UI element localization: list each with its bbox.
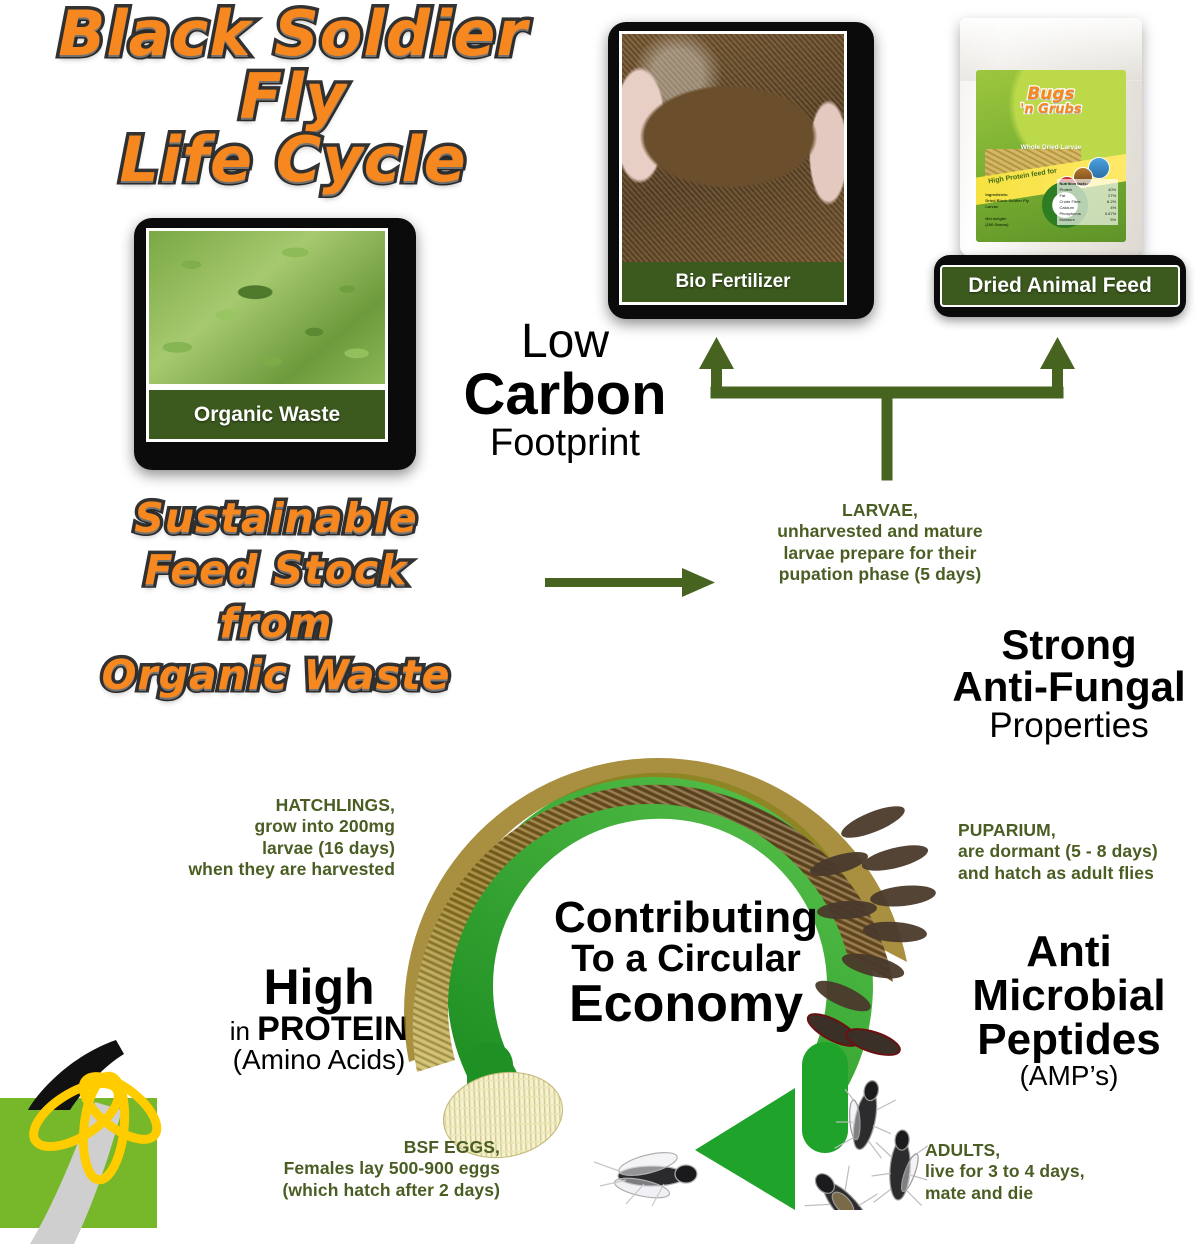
benefit-amp-line-3: Peptides	[938, 1018, 1200, 1062]
poster-subtitle-line-1: Sustainable	[96, 492, 456, 544]
bag-brand: Bugs 'n Grubs	[976, 86, 1125, 116]
benefit-anti-fungal-line-1: Strong	[938, 624, 1200, 666]
benefit-anti-fungal: Strong Anti-Fungal Properties	[938, 624, 1200, 743]
benefit-protein-line-2-word: PROTEIN	[257, 1010, 408, 1048]
center-heading-line-3: Economy	[516, 978, 856, 1030]
page-title-line-2: Life Cycle	[0, 128, 586, 191]
stage-bsf-eggs: BSF EGGS, Females lay 500-900 eggs (whic…	[215, 1137, 500, 1201]
product-bag-bugs-n-grubs[interactable]: Bugs 'n Grubs Whole Dried Larvae ( Black…	[960, 18, 1142, 256]
card-caption-organic-waste: Organic Waste	[149, 390, 385, 439]
stage-larvae-line-1: unharvested and mature	[725, 521, 1035, 542]
center-heading-circular-economy: Contributing To a Circular Economy	[516, 896, 856, 1030]
stage-hatchlings-line-3: when they are harvested	[160, 859, 395, 880]
arrow-waste-to-larvae	[545, 564, 715, 604]
company-logo-mark	[0, 1030, 220, 1247]
stage-hatchlings-heading: HATCHLINGS,	[160, 795, 395, 816]
bag-netweight-body: (150 Grams)	[985, 222, 1008, 227]
bag-nutrition-value: 5%	[1110, 217, 1116, 223]
benefit-anti-fungal-line-3: Properties	[938, 708, 1200, 743]
bag-ingredients-title: Ingredients:	[985, 192, 1008, 197]
stage-bsf-eggs-heading: BSF EGGS,	[215, 1137, 500, 1158]
stage-larvae: LARVAE, unharvested and mature larvae pr…	[725, 500, 1035, 585]
card-organic-waste[interactable]: Organic Waste	[134, 218, 416, 470]
stage-adults-line-2: mate and die	[925, 1183, 1175, 1204]
benefit-amp-line-2: Microbial	[938, 974, 1200, 1018]
page-title: Black Soldier Fly Life Cycle	[0, 2, 586, 192]
bag-brand-line-2: 'n Grubs	[976, 103, 1125, 116]
bio-fertilizer-photo	[622, 34, 844, 262]
stage-hatchlings-line-2: larvae (16 days)	[160, 838, 395, 859]
stage-adults: ADULTS, live for 3 to 4 days, mate and d…	[925, 1140, 1175, 1204]
infographic-poster: Black Soldier Fly Life Cycle Sustainable…	[0, 0, 1200, 1247]
stage-bsf-eggs-line-1: Females lay 500-900 eggs	[215, 1158, 500, 1179]
benefit-low-carbon-footprint: Low Carbon Footprint	[440, 318, 690, 462]
bag-ingredients-body: Dried Black Soldier Fly Larvae	[985, 198, 1029, 209]
benefit-low-carbon-line-2: Carbon	[440, 366, 690, 424]
stage-larvae-heading: LARVAE,	[725, 500, 1035, 521]
stage-hatchlings: HATCHLINGS, grow into 200mg larvae (16 d…	[160, 795, 395, 880]
bag-ingredients: Ingredients: Dried Black Soldier Fly Lar…	[985, 192, 1039, 228]
bag-netweight-title: Net weight:	[985, 216, 1007, 221]
stage-puparium-line-2: and hatch as adult flies	[958, 863, 1200, 884]
stage-larvae-line-3: pupation phase (5 days)	[725, 564, 1035, 585]
stage-adults-line-1: live for 3 to 4 days,	[925, 1161, 1175, 1182]
flying-adult-fly	[560, 1130, 710, 1220]
card-caption-dried-animal-feed-wrap: Dried Animal Feed	[934, 255, 1186, 317]
bag-brand-line-1: Bugs	[1027, 84, 1074, 104]
benefit-amp-line-1: Anti	[938, 930, 1200, 974]
card-bio-fertilizer[interactable]: Bio Fertilizer	[608, 22, 874, 319]
card-caption-bio-fertilizer: Bio Fertilizer	[622, 262, 844, 302]
center-heading-line-2: To a Circular	[516, 940, 856, 978]
bag-nutrition-title: Nutrition facts:	[1059, 181, 1087, 186]
benefit-amp-line-4: (AMP’s)	[938, 1062, 1200, 1090]
bag-nutrition-label: Moisture	[1059, 217, 1074, 223]
stage-bsf-eggs-line-2: (which hatch after 2 days)	[215, 1180, 500, 1201]
stage-puparium-line-1: are dormant (5 - 8 days)	[958, 841, 1200, 862]
stage-larvae-line-2: larvae prepare for their	[725, 543, 1035, 564]
bag-front-label: Bugs 'n Grubs Whole Dried Larvae ( Black…	[976, 70, 1125, 241]
page-title-line-1: Black Soldier Fly	[0, 2, 586, 128]
organic-waste-photo	[149, 231, 385, 384]
stage-hatchlings-line-1: grow into 200mg	[160, 816, 395, 837]
center-heading-line-1: Contributing	[516, 896, 856, 940]
benefit-protein-line-2-prefix: in	[230, 1016, 257, 1046]
benefit-low-carbon-line-1: Low	[440, 318, 690, 366]
bag-nutrition-row: Moisture5%	[1059, 217, 1116, 223]
card-caption-dried-animal-feed: Dried Animal Feed	[940, 265, 1181, 307]
stage-puparium-heading: PUPARIUM,	[958, 820, 1200, 841]
bag-nutrition-panel: Nutrition facts: Protein40%Fat27%Crude F…	[1057, 179, 1118, 224]
benefit-antimicrobial-peptides: Anti Microbial Peptides (AMP’s)	[938, 930, 1200, 1090]
branch-arrow-to-products	[690, 335, 1090, 485]
stage-puparium: PUPARIUM, are dormant (5 - 8 days) and h…	[958, 820, 1200, 884]
stage-adults-heading: ADULTS,	[925, 1140, 1175, 1161]
benefit-anti-fungal-line-2: Anti-Fungal	[938, 666, 1200, 708]
benefit-low-carbon-line-3: Footprint	[440, 424, 690, 462]
